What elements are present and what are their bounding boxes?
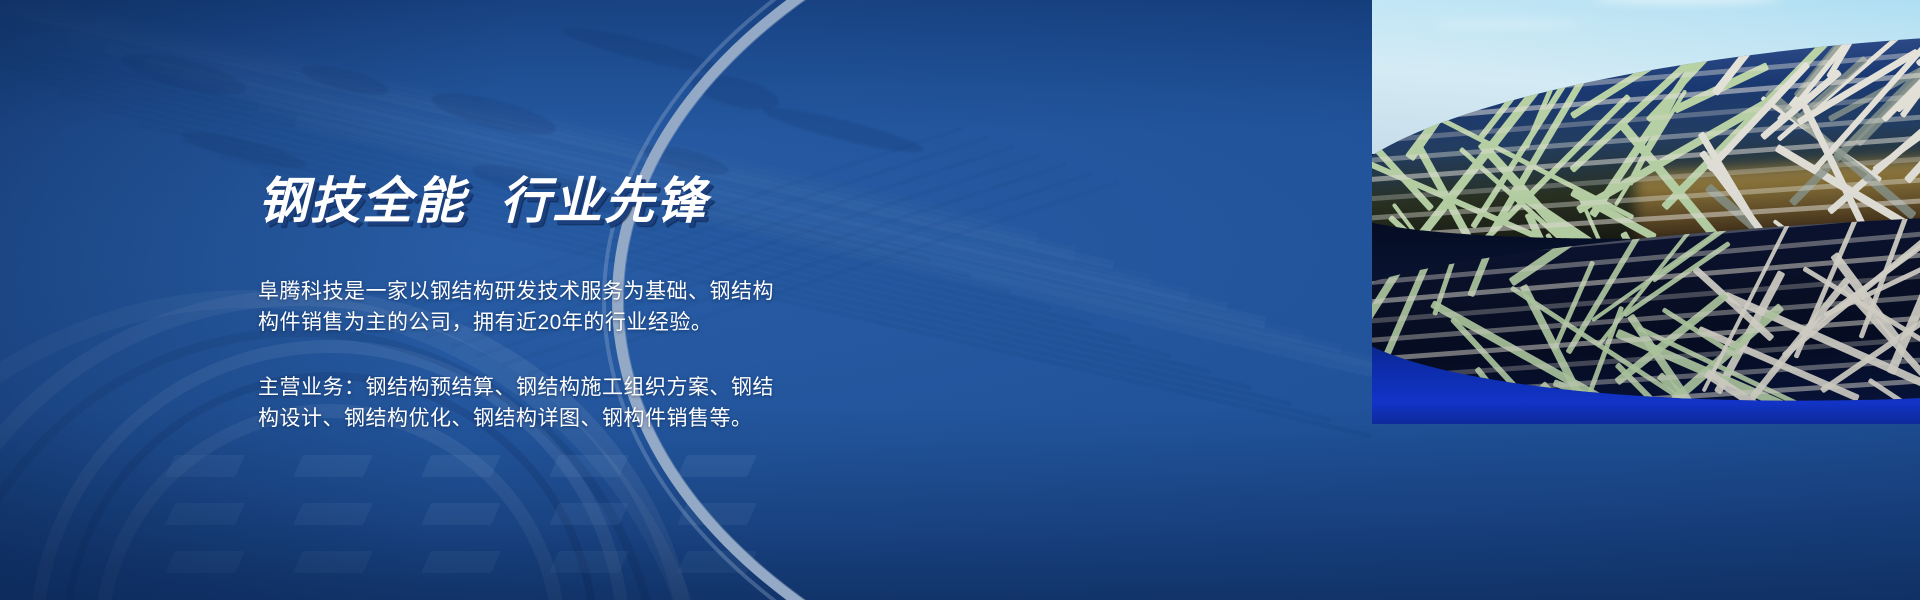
- copy-block: 钢技全能行业先锋 阜腾科技是一家以钢结构研发技术服务为基础、钢结构 构件销售为主…: [0, 0, 780, 600]
- main-business-line-1: 主营业务：钢结构预结算、钢结构施工组织方案、钢结: [258, 372, 774, 403]
- main-business-line-2: 构设计、钢结构优化、钢结构详图、钢构件销售等。: [258, 403, 774, 434]
- main-business-paragraph: 主营业务：钢结构预结算、钢结构施工组织方案、钢结 构设计、钢结构优化、钢结构详图…: [258, 372, 774, 434]
- page-title: 钢技全能行业先锋: [258, 176, 708, 226]
- company-intro-paragraph: 阜腾科技是一家以钢结构研发技术服务为基础、钢结构 构件销售为主的公司，拥有近20…: [258, 276, 774, 338]
- hero-banner: 钢技全能行业先锋 阜腾科技是一家以钢结构研发技术服务为基础、钢结构 构件销售为主…: [0, 0, 1920, 600]
- company-intro-line-1: 阜腾科技是一家以钢结构研发技术服务为基础、钢结构: [258, 276, 774, 307]
- photo-tint-overlay: [1372, 0, 1920, 424]
- company-intro-line-2: 构件销售为主的公司，拥有近20年的行业经验。: [258, 307, 774, 338]
- stadium-photo-circle: [612, 0, 1920, 600]
- headline-part-2: 行业先锋: [500, 173, 708, 229]
- stadium-photo: [1372, 0, 1920, 424]
- headline-part-1: 钢技全能: [258, 173, 466, 229]
